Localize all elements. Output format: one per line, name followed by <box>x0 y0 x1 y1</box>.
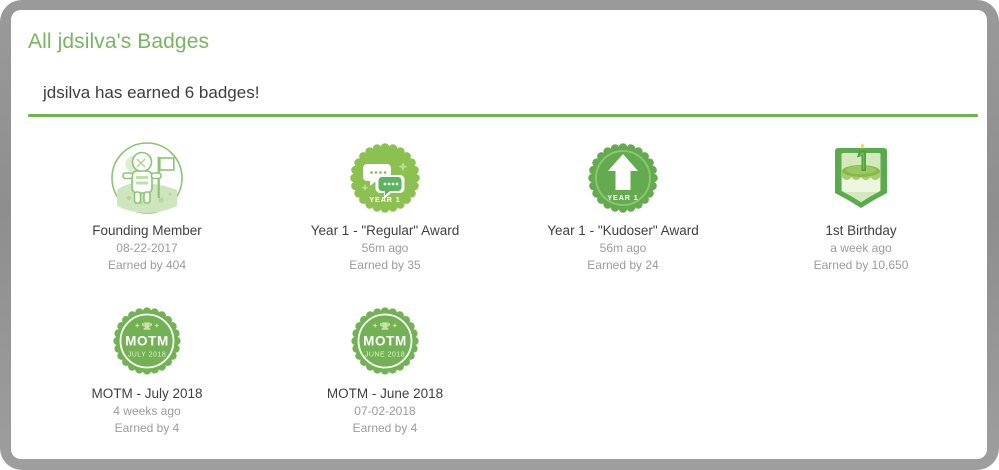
badge-date: 56m ago <box>266 240 504 257</box>
badge-earned-count: Earned by 24 <box>504 257 742 274</box>
badge-item[interactable]: Founding Member 08-22-2017 Earned by 404 <box>28 128 266 291</box>
svg-text:YEAR 1: YEAR 1 <box>607 193 638 202</box>
screen: All jdsilva's Badges jdsilva has earned … <box>11 10 987 459</box>
speech-bubbles-starburst-badge-icon: YEAR 1 <box>347 140 423 216</box>
svg-text:MOTM: MOTM <box>363 334 407 349</box>
badges-page: All jdsilva's Badges jdsilva has earned … <box>11 10 987 459</box>
badge-name: Year 1 - "Kudoser" Award <box>504 222 742 240</box>
badge-earned-count: Earned by 4 <box>28 420 266 437</box>
badge-date: 56m ago <box>504 240 742 257</box>
badge-earned-count: Earned by 10,650 <box>742 257 980 274</box>
badge-item[interactable]: MOTM JUNE 2018 MOTM - June 2018 07-02-20… <box>266 291 504 454</box>
motm-starburst-badge-icon: MOTM JULY 2018 <box>109 303 185 379</box>
badge-name: 1st Birthday <box>742 222 980 240</box>
badge-item[interactable]: YEAR 1 Year 1 - "Kudoser" Award 56m ago … <box>504 128 742 291</box>
badge-date: a week ago <box>742 240 980 257</box>
svg-text:MOTM: MOTM <box>125 334 169 349</box>
badge-earned-count: Earned by 4 <box>266 420 504 437</box>
birthday-cake-shield-badge-icon <box>823 140 899 216</box>
badge-item[interactable]: 1st Birthday a week ago Earned by 10,650 <box>742 128 980 291</box>
badge-item[interactable]: MOTM JULY 2018 MOTM - July 2018 4 weeks … <box>28 291 266 454</box>
motm-subtext-june: JUNE 2018 <box>365 352 405 359</box>
badge-date: 08-22-2017 <box>28 240 266 257</box>
badge-earned-count: Earned by 404 <box>28 257 266 274</box>
badge-date: 4 weeks ago <box>28 403 266 420</box>
page-title: All jdsilva's Badges <box>28 30 209 54</box>
astronaut-moon-badge-icon <box>109 140 185 216</box>
badge-name: Year 1 - "Regular" Award <box>266 222 504 240</box>
badge-count-summary: jdsilva has earned 6 badges! <box>43 83 259 103</box>
motm-subtext-july: JULY 2018 <box>128 352 167 359</box>
badge-earned-count: Earned by 35 <box>266 257 504 274</box>
badge-name: MOTM - July 2018 <box>28 385 266 403</box>
badge-name: MOTM - June 2018 <box>266 385 504 403</box>
motm-starburst-badge-icon: MOTM JUNE 2018 <box>347 303 423 379</box>
up-arrow-starburst-badge-icon: YEAR 1 <box>585 140 661 216</box>
badge-date: 07-02-2018 <box>266 403 504 420</box>
header-divider <box>28 114 978 117</box>
badge-item[interactable]: YEAR 1 Year 1 - "Regular" Award 56m ago … <box>266 128 504 291</box>
badge-grid: Founding Member 08-22-2017 Earned by 404 <box>28 128 980 454</box>
svg-text:YEAR 1: YEAR 1 <box>369 195 400 204</box>
badge-name: Founding Member <box>28 222 266 240</box>
device-bezel: All jdsilva's Badges jdsilva has earned … <box>0 0 999 470</box>
